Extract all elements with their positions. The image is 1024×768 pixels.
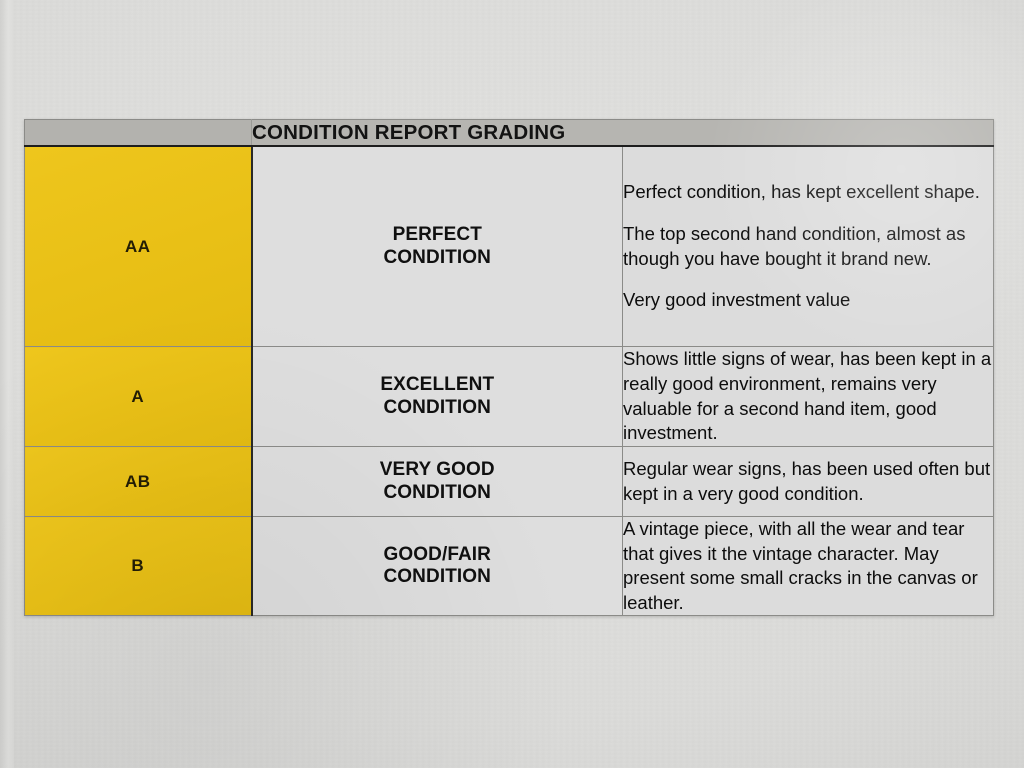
table-row: B GOOD/FAIR CONDITION A vintage piece, w…	[25, 517, 994, 616]
condition-label-line1: VERY GOOD	[380, 459, 495, 480]
grade-cell-b: B	[25, 517, 252, 616]
table-row: A EXCELLENT CONDITION Shows little signs…	[25, 347, 994, 447]
condition-report-grading-table: CONDITION REPORT GRADING AA PERFECT COND…	[24, 119, 994, 616]
description-cell-aa: Perfect condition, has kept excellent sh…	[623, 146, 994, 347]
condition-label-line1: EXCELLENT	[380, 374, 494, 395]
grade-cell-aa: AA	[25, 146, 252, 347]
condition-label-line2: CONDITION	[383, 397, 491, 418]
description-paragraph: The top second hand condition, almost as…	[623, 222, 993, 271]
grade-cell-a: A	[25, 347, 252, 447]
condition-label-line2: CONDITION	[383, 482, 491, 503]
description-cell-ab: Regular wear signs, has been used often …	[623, 447, 994, 517]
condition-label-line2: CONDITION	[383, 247, 491, 268]
description-paragraph: A vintage piece, with all the wear and t…	[623, 517, 993, 615]
description-cell-a: Shows little signs of wear, has been kep…	[623, 347, 994, 447]
condition-label-line2: CONDITION	[383, 566, 491, 587]
condition-label-line1: PERFECT	[393, 224, 482, 245]
header-blank-cell	[25, 120, 252, 147]
grade-cell-ab: AB	[25, 447, 252, 517]
condition-label-ab: VERY GOOD CONDITION	[252, 447, 623, 517]
condition-label-b: GOOD/FAIR CONDITION	[252, 517, 623, 616]
condition-label-aa: PERFECT CONDITION	[252, 146, 623, 347]
description-paragraph: Very good investment value	[623, 288, 993, 313]
description-paragraph: Perfect condition, has kept excellent sh…	[623, 180, 993, 205]
table-row: AA PERFECT CONDITION Perfect condition, …	[25, 146, 994, 347]
description-cell-b: A vintage piece, with all the wear and t…	[623, 517, 994, 616]
condition-label-line1: GOOD/FAIR	[383, 544, 491, 565]
paper-sheet-edge	[0, 0, 14, 768]
table-header-row: CONDITION REPORT GRADING	[25, 120, 994, 147]
table-row: AB VERY GOOD CONDITION Regular wear sign…	[25, 447, 994, 517]
description-paragraph: Shows little signs of wear, has been kep…	[623, 347, 993, 445]
page-title: CONDITION REPORT GRADING	[252, 120, 994, 147]
description-paragraph: Regular wear signs, has been used often …	[623, 457, 993, 506]
condition-label-a: EXCELLENT CONDITION	[252, 347, 623, 447]
